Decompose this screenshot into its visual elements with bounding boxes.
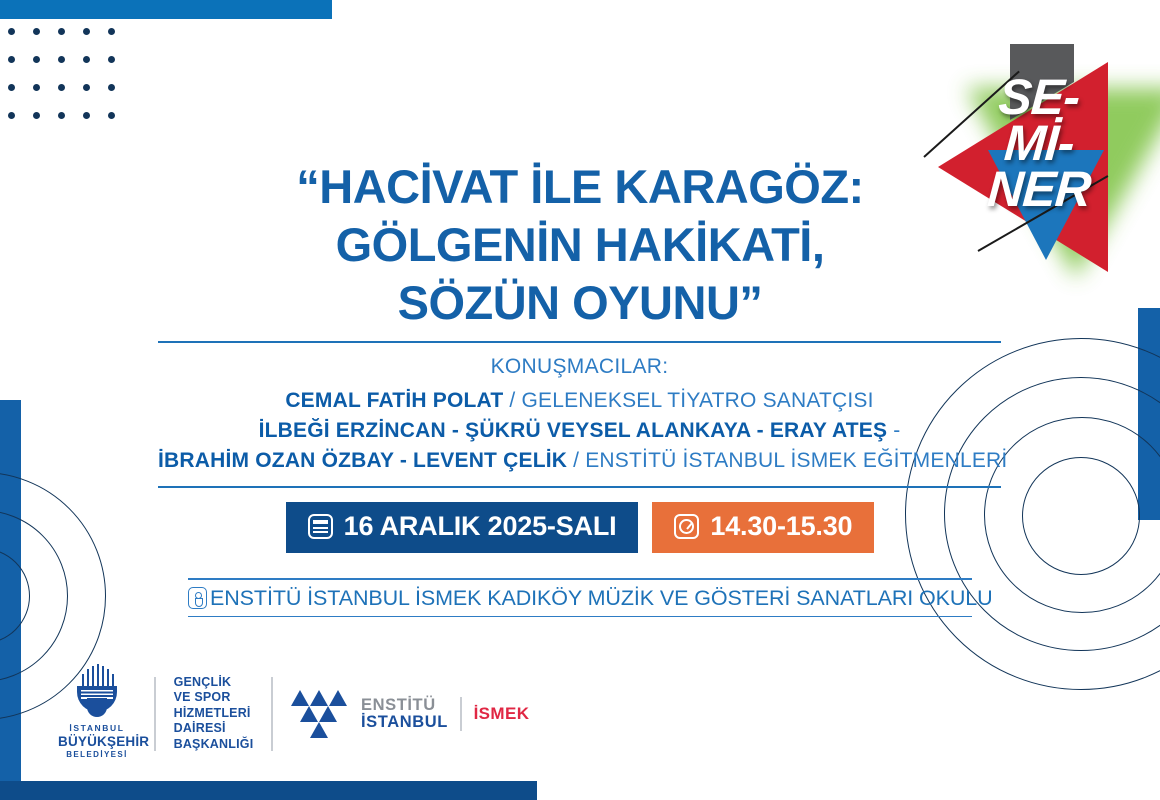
venue-bottom-rule	[188, 616, 972, 618]
speaker-names-1: CEMAL FATİH POLAT	[285, 389, 503, 412]
department-line-2: VE SPOR	[174, 690, 254, 706]
date-badge: 16 ARALIK 2025-SALI	[286, 502, 639, 553]
grid-dot	[108, 56, 115, 63]
grid-dot	[8, 112, 15, 119]
grid-dot	[8, 56, 15, 63]
speaker-names-2: İLBEĞİ ERZİNCAN - ŞÜKRÜ VEYSEL ALANKAYA …	[259, 419, 888, 442]
minaret-stroke	[87, 669, 89, 688]
enstitu-word-1: ENSTİTÜ	[361, 697, 448, 714]
left-accent-bar	[0, 400, 21, 800]
right-accent-bar	[1138, 308, 1160, 520]
department-line-4: DAİRESİ	[174, 721, 254, 737]
speaker-line-3: İBRAHİM OZAN ÖZBAY - LEVENT ÇELİK / ENST…	[158, 446, 1001, 476]
department-logo: GENÇLİK VE SPOR HİZMETLERİ DAİRESİ BAŞKA…	[174, 675, 254, 753]
department-line-5: BAŞKANLIĞI	[174, 737, 254, 753]
calendar-icon	[308, 514, 333, 539]
top-accent-bar	[0, 0, 332, 19]
department-line-1: GENÇLİK	[174, 675, 254, 691]
dot-grid-decoration	[8, 28, 120, 126]
bottom-accent-bar	[0, 781, 537, 800]
footer-divider-2	[271, 677, 273, 751]
logo-triangle	[300, 706, 318, 722]
title-line-3: SÖZÜN OYUNU”	[0, 274, 1160, 332]
grid-dot	[83, 28, 90, 35]
footer-logos: İSTANBUL BÜYÜKŞEHİR BELEDİYESİ GENÇLİK V…	[58, 668, 529, 759]
grid-dot	[33, 84, 40, 91]
speaker-role-2: -	[887, 419, 900, 442]
ibb-line-1: İSTANBUL	[58, 723, 136, 733]
grid-dot	[83, 84, 90, 91]
speakers-section: KONUŞMACILAR: CEMAL FATİH POLAT / GELENE…	[158, 341, 1001, 488]
speaker-role-3: / ENSTİTÜ İSTANBUL İSMEK EĞİTMENLERİ	[567, 449, 1007, 472]
grid-dot	[83, 112, 90, 119]
logo-triangle	[310, 690, 328, 706]
time-badge: 14.30-15.30	[652, 502, 874, 553]
page-title: “HACİVAT İLE KARAGÖZ: GÖLGENİN HAKİKATİ,…	[0, 158, 1160, 332]
grid-dot	[58, 84, 65, 91]
enstitu-wordmark: ENSTİTÜ İSTANBUL	[361, 697, 448, 731]
event-time-text: 14.30-15.30	[710, 511, 852, 542]
event-date-text: 16 ARALIK 2025-SALI	[344, 511, 617, 542]
minaret-stroke	[102, 666, 104, 688]
event-badges: 16 ARALIK 2025-SALI 14.30-15.30	[0, 502, 1160, 553]
grid-dot	[33, 112, 40, 119]
logo-triangle	[329, 690, 347, 706]
grid-dot	[108, 84, 115, 91]
ibb-emblem-icon	[64, 668, 130, 720]
clock-icon	[674, 514, 699, 539]
logo-triangle	[319, 706, 337, 722]
speakers-heading: KONUŞMACILAR:	[158, 355, 1001, 379]
grid-dot	[58, 56, 65, 63]
grid-dot	[8, 28, 15, 35]
minaret-stroke	[107, 669, 109, 688]
grid-dot	[33, 56, 40, 63]
title-line-1: “HACİVAT İLE KARAGÖZ:	[0, 158, 1160, 216]
department-line-3: HİZMETLERİ	[174, 706, 254, 722]
minaret-stroke	[112, 674, 114, 688]
footer-divider-1	[154, 677, 156, 751]
grid-dot	[108, 112, 115, 119]
title-line-2: GÖLGENİN HAKİKATİ,	[0, 216, 1160, 274]
grid-dot	[8, 84, 15, 91]
logo-triangle	[291, 690, 309, 706]
ibb-logo: İSTANBUL BÜYÜKŞEHİR BELEDİYESİ	[58, 668, 136, 759]
location-pin-icon	[188, 587, 207, 609]
speaker-line-1: CEMAL FATİH POLAT / GELENEKSEL TİYATRO S…	[158, 386, 1001, 416]
venue-text: ENSTİTÜ İSTANBUL İSMEK KADIKÖY MÜZİK VE …	[210, 586, 993, 611]
minaret-stroke	[92, 666, 94, 688]
venue-section: ENSTİTÜ İSTANBUL İSMEK KADIKÖY MÜZİK VE …	[188, 578, 972, 617]
grid-dot	[58, 28, 65, 35]
minaret-stroke	[97, 664, 99, 688]
speakers-bottom-rule	[158, 486, 1001, 488]
enstitu-word-2: İSTANBUL	[361, 714, 448, 731]
speaker-names-3: İBRAHİM OZAN ÖZBAY - LEVENT ÇELİK	[158, 449, 567, 472]
poster-canvas: SE- Mİ- NER “HACİVAT İLE KARAGÖZ: GÖLGEN…	[0, 0, 1160, 800]
grid-dot	[58, 112, 65, 119]
triangles-icon	[291, 690, 349, 738]
speaker-line-2: İLBEĞİ ERZİNCAN - ŞÜKRÜ VEYSEL ALANKAYA …	[158, 416, 1001, 446]
speaker-role-1: / GELENEKSEL TİYATRO SANATÇISI	[503, 389, 873, 412]
enstitu-istanbul-logo: ENSTİTÜ İSTANBUL İSMEK	[291, 690, 529, 738]
minaret-stroke	[82, 674, 84, 688]
footer-divider-3	[460, 697, 462, 731]
ibb-line-3: BELEDİYESİ	[58, 750, 136, 759]
seminer-line-1: SE-	[916, 74, 1160, 120]
grid-dot	[108, 28, 115, 35]
ismek-logo: İSMEK	[474, 704, 530, 724]
grid-dot	[83, 56, 90, 63]
grid-dot	[33, 28, 40, 35]
logo-triangle	[310, 722, 328, 738]
ibb-line-2: BÜYÜKŞEHİR	[58, 734, 136, 749]
